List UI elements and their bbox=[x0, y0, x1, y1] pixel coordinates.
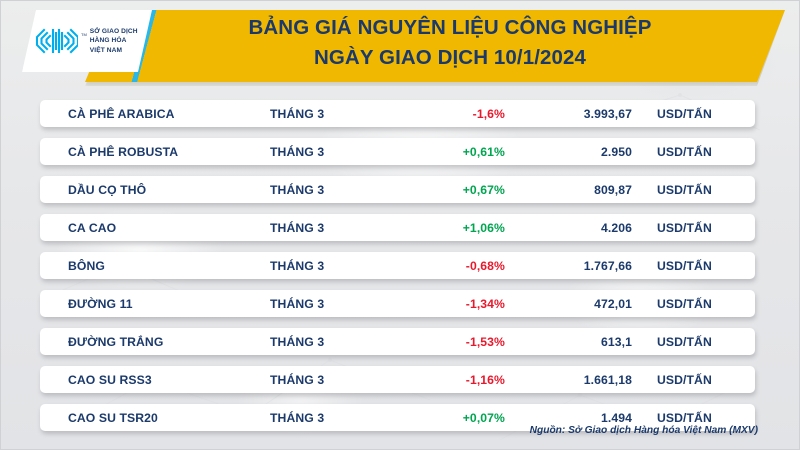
cell-change-percent: -1,6% bbox=[390, 107, 505, 121]
cell-commodity-name: CÀ PHÊ ROBUSTA bbox=[40, 145, 270, 159]
cell-commodity-name: ĐƯỜNG TRẮNG bbox=[40, 335, 270, 349]
cell-unit: USD/TẤN bbox=[640, 411, 735, 425]
page-title: BẢNG GIÁ NGUYÊN LIỆU CÔNG NGHIỆP NGÀY GI… bbox=[200, 13, 700, 72]
cell-price: 1.494 bbox=[505, 411, 640, 425]
source-attribution: Nguồn: Sở Giao dịch Hàng hóa Việt Nam (M… bbox=[530, 425, 758, 436]
price-board-screen: TM SỞ GIAO DỊCH HÀNG HÓA VIỆT NAM BẢNG G… bbox=[0, 0, 800, 450]
cell-contract-month: THÁNG 3 bbox=[270, 373, 390, 387]
cell-price: 809,87 bbox=[505, 183, 640, 197]
cell-contract-month: THÁNG 3 bbox=[270, 221, 390, 235]
cell-commodity-name: CAO SU RSS3 bbox=[40, 373, 270, 387]
cell-contract-month: THÁNG 3 bbox=[270, 107, 390, 121]
cell-change-percent: -1,53% bbox=[390, 335, 505, 349]
cell-commodity-name: CAO SU TSR20 bbox=[40, 411, 270, 425]
cell-commodity-name: CÀ PHÊ ARABICA bbox=[40, 107, 270, 121]
cell-price: 4.206 bbox=[505, 221, 640, 235]
cell-price: 3.993,67 bbox=[505, 107, 640, 121]
cell-commodity-name: ĐƯỜNG 11 bbox=[40, 297, 270, 311]
cell-unit: USD/TẤN bbox=[640, 145, 735, 159]
cell-contract-month: THÁNG 3 bbox=[270, 183, 390, 197]
cell-price: 1.661,18 bbox=[505, 373, 640, 387]
cell-contract-month: THÁNG 3 bbox=[270, 297, 390, 311]
cell-unit: USD/TẤN bbox=[640, 335, 735, 349]
cell-commodity-name: BÔNG bbox=[40, 259, 270, 273]
brand-name-line-3: VIỆT NAM bbox=[90, 46, 138, 55]
cell-unit: USD/TẤN bbox=[640, 297, 735, 311]
cell-change-percent: +0,67% bbox=[390, 183, 505, 197]
cell-unit: USD/TẤN bbox=[640, 183, 735, 197]
cell-price: 613,1 bbox=[505, 335, 640, 349]
cell-price: 2.950 bbox=[505, 145, 640, 159]
table-row[interactable]: CÀ PHÊ ROBUSTATHÁNG 3+0,61%2.950USD/TẤN bbox=[40, 138, 755, 165]
brand-name: SỞ GIAO DỊCH HÀNG HÓA VIỆT NAM bbox=[90, 27, 138, 55]
cell-unit: USD/TẤN bbox=[640, 373, 735, 387]
table-row[interactable]: BÔNGTHÁNG 3-0,68%1.767,66USD/TẤN bbox=[40, 252, 755, 279]
cell-price: 1.767,66 bbox=[505, 259, 640, 273]
cell-unit: USD/TẤN bbox=[640, 107, 735, 121]
cell-contract-month: THÁNG 3 bbox=[270, 411, 390, 425]
cell-change-percent: +0,61% bbox=[390, 145, 505, 159]
cell-contract-month: THÁNG 3 bbox=[270, 335, 390, 349]
table-row[interactable]: CA CAOTHÁNG 3+1,06%4.206USD/TẤN bbox=[40, 214, 755, 241]
brand-name-line-2: HÀNG HÓA bbox=[90, 36, 138, 45]
cell-change-percent: -1,16% bbox=[390, 373, 505, 387]
cell-unit: USD/TẤN bbox=[640, 221, 735, 235]
cell-unit: USD/TẤN bbox=[640, 259, 735, 273]
title-trading-date: NGÀY GIAO DỊCH 10/1/2024 bbox=[200, 43, 700, 73]
cell-price: 472,01 bbox=[505, 297, 640, 311]
cell-commodity-name: DẦU CỌ THÔ bbox=[40, 183, 270, 197]
mxv-wave-logo-icon bbox=[34, 26, 78, 56]
trademark-mark: TM bbox=[81, 32, 87, 37]
brand-logo-panel: TM SỞ GIAO DỊCH HÀNG HÓA VIỆT NAM bbox=[22, 10, 152, 72]
table-row[interactable]: CAO SU RSS3THÁNG 3-1,16%1.661,18USD/TẤN bbox=[40, 366, 755, 393]
cell-contract-month: THÁNG 3 bbox=[270, 259, 390, 273]
table-row[interactable]: CÀ PHÊ ARABICATHÁNG 3-1,6%3.993,67USD/TẤ… bbox=[40, 100, 755, 127]
cell-change-percent: +0,07% bbox=[390, 411, 505, 425]
header: TM SỞ GIAO DỊCH HÀNG HÓA VIỆT NAM BẢNG G… bbox=[0, 0, 800, 90]
title-primary: BẢNG GIÁ NGUYÊN LIỆU CÔNG NGHIỆP bbox=[200, 13, 700, 43]
cell-change-percent: +1,06% bbox=[390, 221, 505, 235]
cell-contract-month: THÁNG 3 bbox=[270, 145, 390, 159]
price-table: CÀ PHÊ ARABICATHÁNG 3-1,6%3.993,67USD/TẤ… bbox=[0, 90, 800, 420]
cell-change-percent: -0,68% bbox=[390, 259, 505, 273]
brand-name-line-1: SỞ GIAO DỊCH bbox=[90, 27, 138, 36]
table-row[interactable]: ĐƯỜNG 11THÁNG 3-1,34%472,01USD/TẤN bbox=[40, 290, 755, 317]
table-row[interactable]: ĐƯỜNG TRẮNGTHÁNG 3-1,53%613,1USD/TẤN bbox=[40, 328, 755, 355]
cell-change-percent: -1,34% bbox=[390, 297, 505, 311]
table-row[interactable]: DẦU CỌ THÔTHÁNG 3+0,67%809,87USD/TẤN bbox=[40, 176, 755, 203]
cell-commodity-name: CA CAO bbox=[40, 221, 270, 235]
